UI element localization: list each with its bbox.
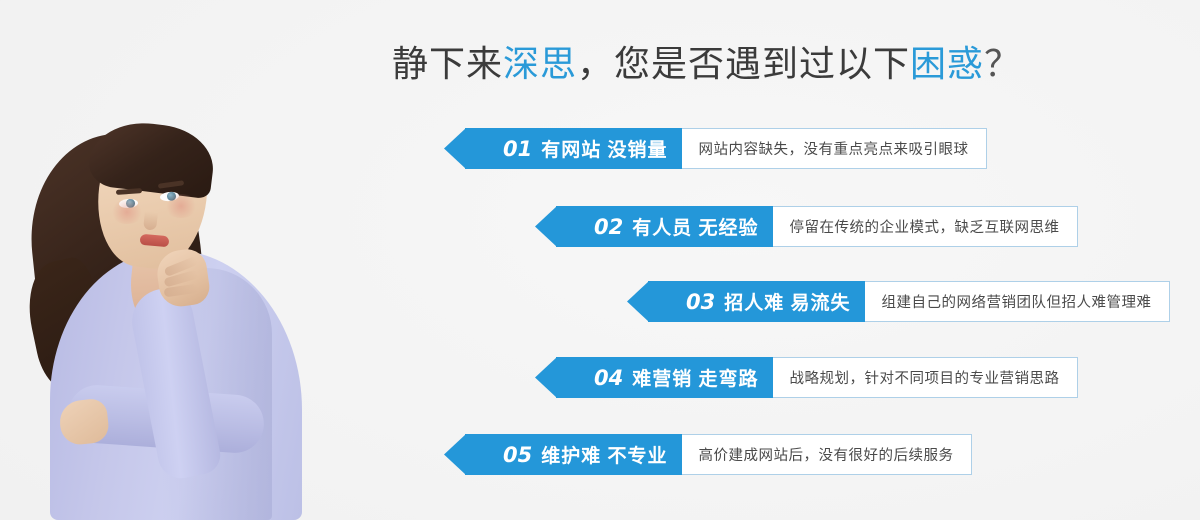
title-accent-2: 困惑 bbox=[910, 43, 984, 84]
item-tag[interactable]: 05 维护难 不专业 bbox=[465, 434, 682, 475]
thinking-woman-photo bbox=[12, 72, 332, 520]
item-title: 有人员 无经验 bbox=[632, 213, 758, 240]
item-description: 高价建成网站后，没有很好的后续服务 bbox=[682, 434, 972, 475]
item-number: 03 bbox=[686, 290, 715, 314]
list-item[interactable]: 01 有网站 没销量 网站内容缺失，没有重点亮点来吸引眼球 bbox=[465, 128, 987, 169]
item-number: 02 bbox=[594, 215, 623, 239]
cheek-right bbox=[164, 194, 198, 218]
page-title: 静下来深思，您是否遇到过以下困惑？ bbox=[392, 40, 1021, 88]
list-item[interactable]: 04 难营销 走弯路 战略规划，针对不同项目的专业营销思路 bbox=[556, 357, 1078, 398]
list-item[interactable]: 03 招人难 易流失 组建自己的网络营销团队但招人难管理难 bbox=[648, 281, 1170, 322]
item-title: 维护难 不专业 bbox=[541, 441, 667, 468]
item-description: 停留在传统的企业模式，缺乏互联网思维 bbox=[773, 206, 1078, 247]
item-number: 05 bbox=[503, 443, 532, 467]
list-item[interactable]: 05 维护难 不专业 高价建成网站后，没有很好的后续服务 bbox=[465, 434, 972, 475]
item-title: 有网站 没销量 bbox=[541, 135, 667, 162]
list-item[interactable]: 02 有人员 无经验 停留在传统的企业模式，缺乏互联网思维 bbox=[556, 206, 1078, 247]
cheek-left bbox=[110, 200, 144, 224]
title-accent-1: 深思 bbox=[503, 43, 577, 84]
item-description: 战略规划，针对不同项目的专业营销思路 bbox=[773, 357, 1078, 398]
item-tag[interactable]: 04 难营销 走弯路 bbox=[556, 357, 773, 398]
item-tag[interactable]: 01 有网站 没销量 bbox=[465, 128, 682, 169]
title-part-2: ，您是否遇到过以下 bbox=[577, 43, 910, 84]
item-tag[interactable]: 02 有人员 无经验 bbox=[556, 206, 773, 247]
item-number: 01 bbox=[503, 137, 532, 161]
item-title: 招人难 易流失 bbox=[724, 288, 850, 315]
promo-banner: 静下来深思，您是否遇到过以下困惑？ 01 有网站 没销量 网站内容缺失，没有重点… bbox=[0, 0, 1200, 520]
item-description: 组建自己的网络营销团队但招人难管理难 bbox=[865, 281, 1170, 322]
title-part-1: 静下来 bbox=[392, 43, 503, 84]
item-description: 网站内容缺失，没有重点亮点来吸引眼球 bbox=[682, 128, 987, 169]
title-question-mark: ？ bbox=[984, 43, 1021, 84]
item-number: 04 bbox=[594, 366, 623, 390]
item-tag[interactable]: 03 招人难 易流失 bbox=[648, 281, 865, 322]
item-title: 难营销 走弯路 bbox=[632, 364, 758, 391]
